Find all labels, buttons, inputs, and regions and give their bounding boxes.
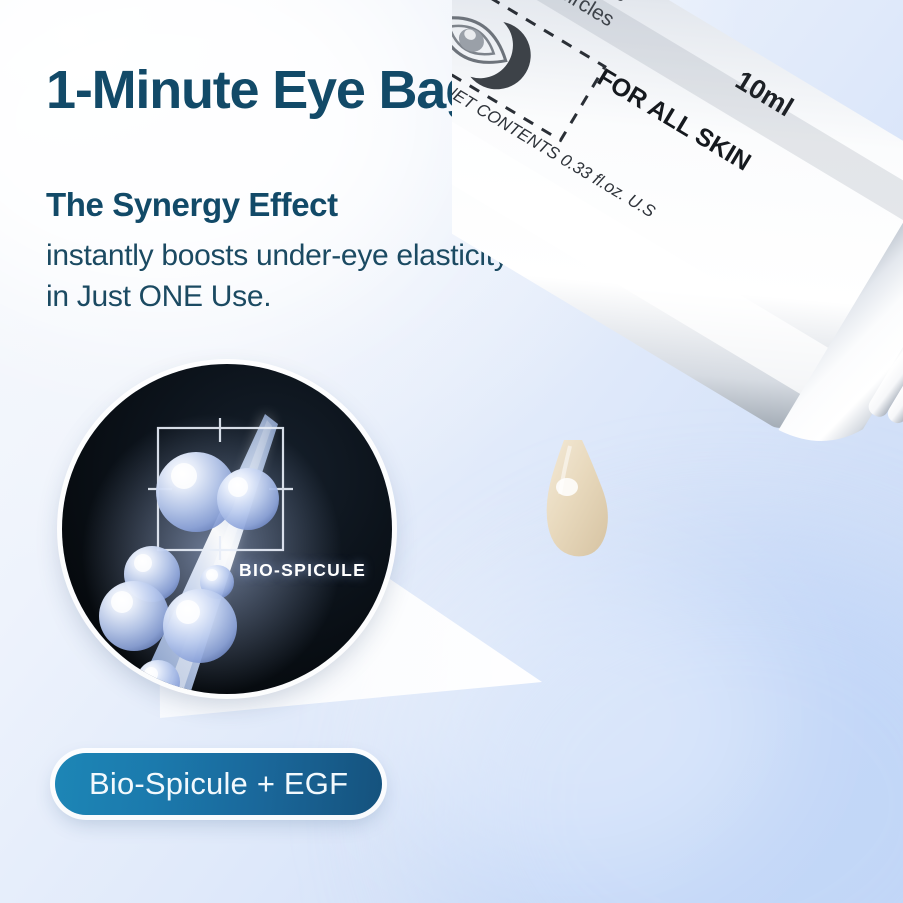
svg-text:under eye-bags: under eye-bags [495,0,632,7]
promo-canvas: 1-Minute Eye Bag Lift The Synergy Effect… [0,0,903,903]
ingredient-badge[interactable]: Bio-Spicule + EGF [55,753,382,815]
cream-droplet [547,440,608,556]
svg-text:and dark circles: and dark circles [480,0,618,31]
subheading-emphasis: The Synergy Effect [46,186,338,224]
ingredient-badge-label: Bio-Spicule + EGF [89,766,348,802]
spicule-illustration [62,364,392,694]
svg-text:FOR ALL SKIN: FOR ALL SKIN [592,63,755,176]
bio-spicule-inset: BIO-SPICULE [62,364,392,694]
svg-text:10ml: 10ml [730,65,798,122]
subheading-line-2: in Just ONE Use. [46,277,508,318]
bio-spicule-label: BIO-SPICULE [239,560,366,581]
subheading-body: instantly boosts under-eye elasticity in… [46,236,508,318]
background-glow-center [361,560,781,880]
background-glow-bottom-right [423,543,903,903]
subheading-line-1: instantly boosts under-eye elasticity [46,236,508,277]
page-title: 1-Minute Eye Bag Lift [46,62,570,119]
